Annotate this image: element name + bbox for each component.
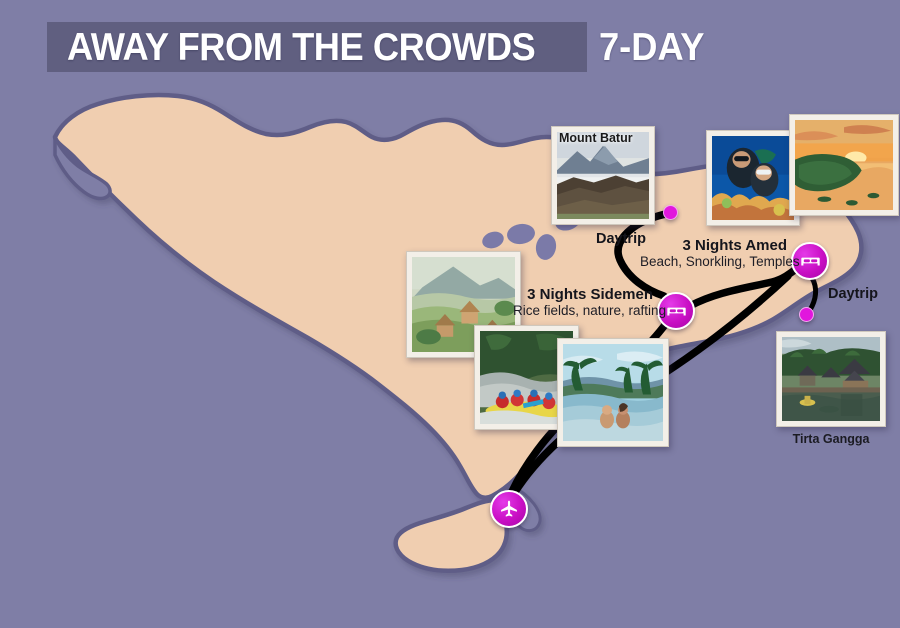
- photo-card-infinity-pool[interactable]: [557, 338, 669, 447]
- photo-card-tirta-gangga[interactable]: Tirta Gangga: [776, 331, 886, 427]
- label-sidemen-sub: Rice fields, nature, rafting: [513, 303, 653, 319]
- marker-tirta-gangga-daytrip[interactable]: [799, 307, 814, 322]
- label-amed-sub: Beach, Snorkling, Temples: [640, 254, 787, 270]
- bed-icon: [666, 301, 687, 322]
- photo-scuba-diving: [712, 136, 794, 220]
- label-daytrip-batur: Daytrip: [596, 231, 646, 247]
- photo-card-sunset-beach[interactable]: [789, 114, 899, 216]
- photo-card-mount-batur[interactable]: Mount Batur: [551, 126, 655, 225]
- photo-sunset-beach: [795, 120, 893, 210]
- photo-caption-mount-batur: Mount Batur: [559, 131, 633, 145]
- title-sub-text: 7-DAY: [599, 28, 705, 67]
- page-title: AWAY FROM THE CROWDS 7-DAY: [47, 22, 712, 72]
- label-sidemen: 3 Nights Sidemen Rice fields, nature, ra…: [513, 286, 653, 319]
- marker-airport[interactable]: [490, 490, 528, 528]
- title-band: AWAY FROM THE CROWDS: [47, 22, 587, 72]
- photo-card-scuba-diving[interactable]: [706, 130, 800, 226]
- photo-infinity-pool: [563, 344, 663, 441]
- label-daytrip-tirta: Daytrip: [828, 286, 878, 302]
- bed-icon: [800, 251, 821, 272]
- photo-mount-batur: [557, 132, 649, 219]
- label-sidemen-title: 3 Nights Sidemen: [513, 286, 653, 303]
- airplane-icon: [499, 499, 519, 519]
- marker-mount-batur-daytrip[interactable]: [663, 205, 678, 220]
- infographic-canvas: AWAY FROM THE CROWDS 7-DAY Mount Batur: [0, 0, 900, 628]
- photo-caption-tirta-gangga: Tirta Gangga: [777, 432, 885, 446]
- title-main-text: AWAY FROM THE CROWDS: [67, 28, 535, 67]
- label-amed-title: 3 Nights Amed: [640, 237, 787, 254]
- photo-tirta-gangga: [782, 337, 880, 421]
- label-amed: 3 Nights Amed Beach, Snorkling, Temples: [640, 237, 787, 270]
